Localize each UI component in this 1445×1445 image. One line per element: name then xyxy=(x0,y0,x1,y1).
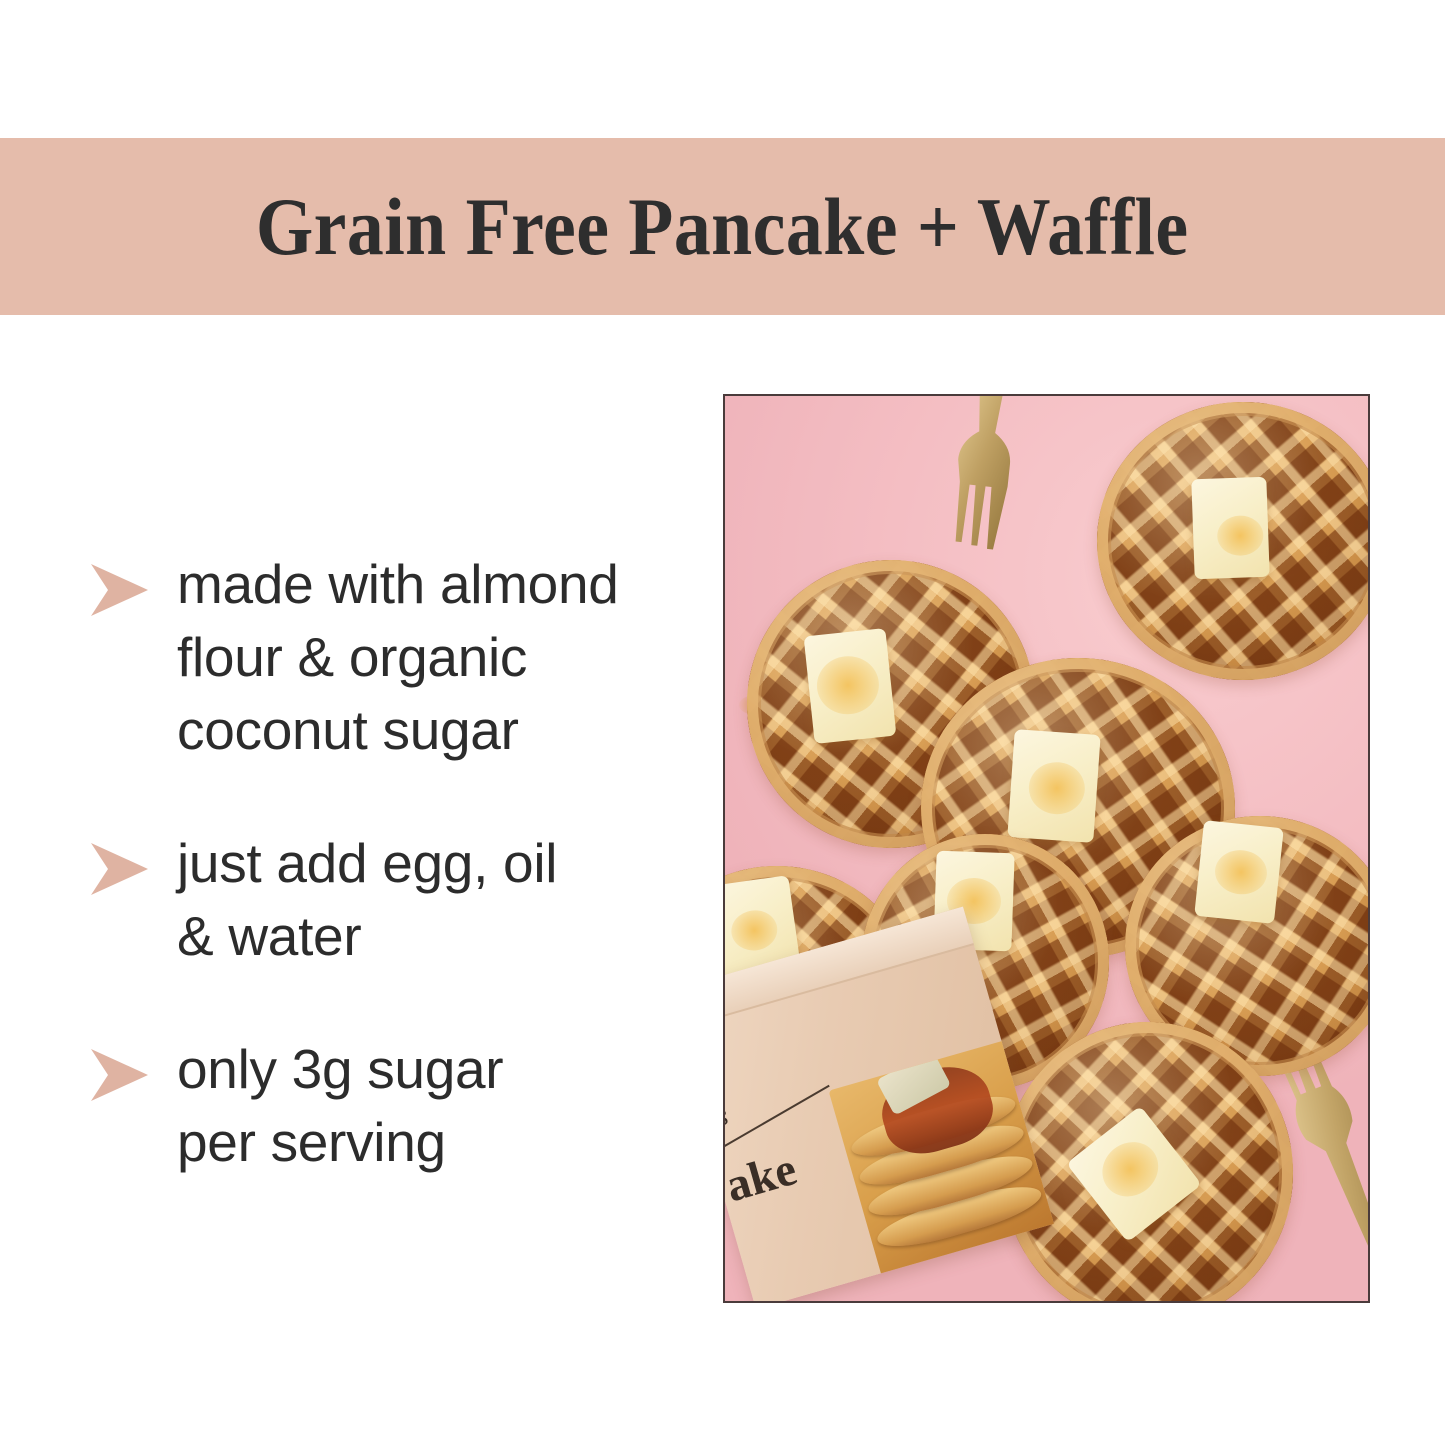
fork-icon xyxy=(923,396,1044,561)
butter-pat xyxy=(1194,820,1284,924)
butter-pat xyxy=(1191,477,1269,580)
pouch-divider xyxy=(725,1085,830,1152)
list-item-label: made with almond flour & organic coconut… xyxy=(177,548,619,767)
butter-pat xyxy=(1007,729,1100,843)
feature-bullet-list: made with almond flour & organic coconut… xyxy=(88,548,688,1179)
list-item: made with almond flour & organic coconut… xyxy=(88,548,688,767)
pouch-script-text: ts xyxy=(725,1100,732,1135)
list-item: just add egg, oil & water xyxy=(88,827,688,973)
list-item-label: only 3g sugar per serving xyxy=(177,1033,503,1179)
waffle-product-photo: ts ake xyxy=(723,394,1370,1303)
butter-pat xyxy=(804,628,897,744)
list-item: only 3g sugar per serving xyxy=(88,1033,688,1179)
list-item-label: just add egg, oil & water xyxy=(177,827,557,973)
arrow-right-icon xyxy=(88,562,150,618)
arrow-right-icon xyxy=(88,841,150,897)
header-banner: Grain Free Pancake + Waffle xyxy=(0,138,1445,315)
arrow-right-icon xyxy=(88,1047,150,1103)
pouch-title-text: ake xyxy=(725,1142,802,1213)
page-title: Grain Free Pancake + Waffle xyxy=(256,186,1189,268)
